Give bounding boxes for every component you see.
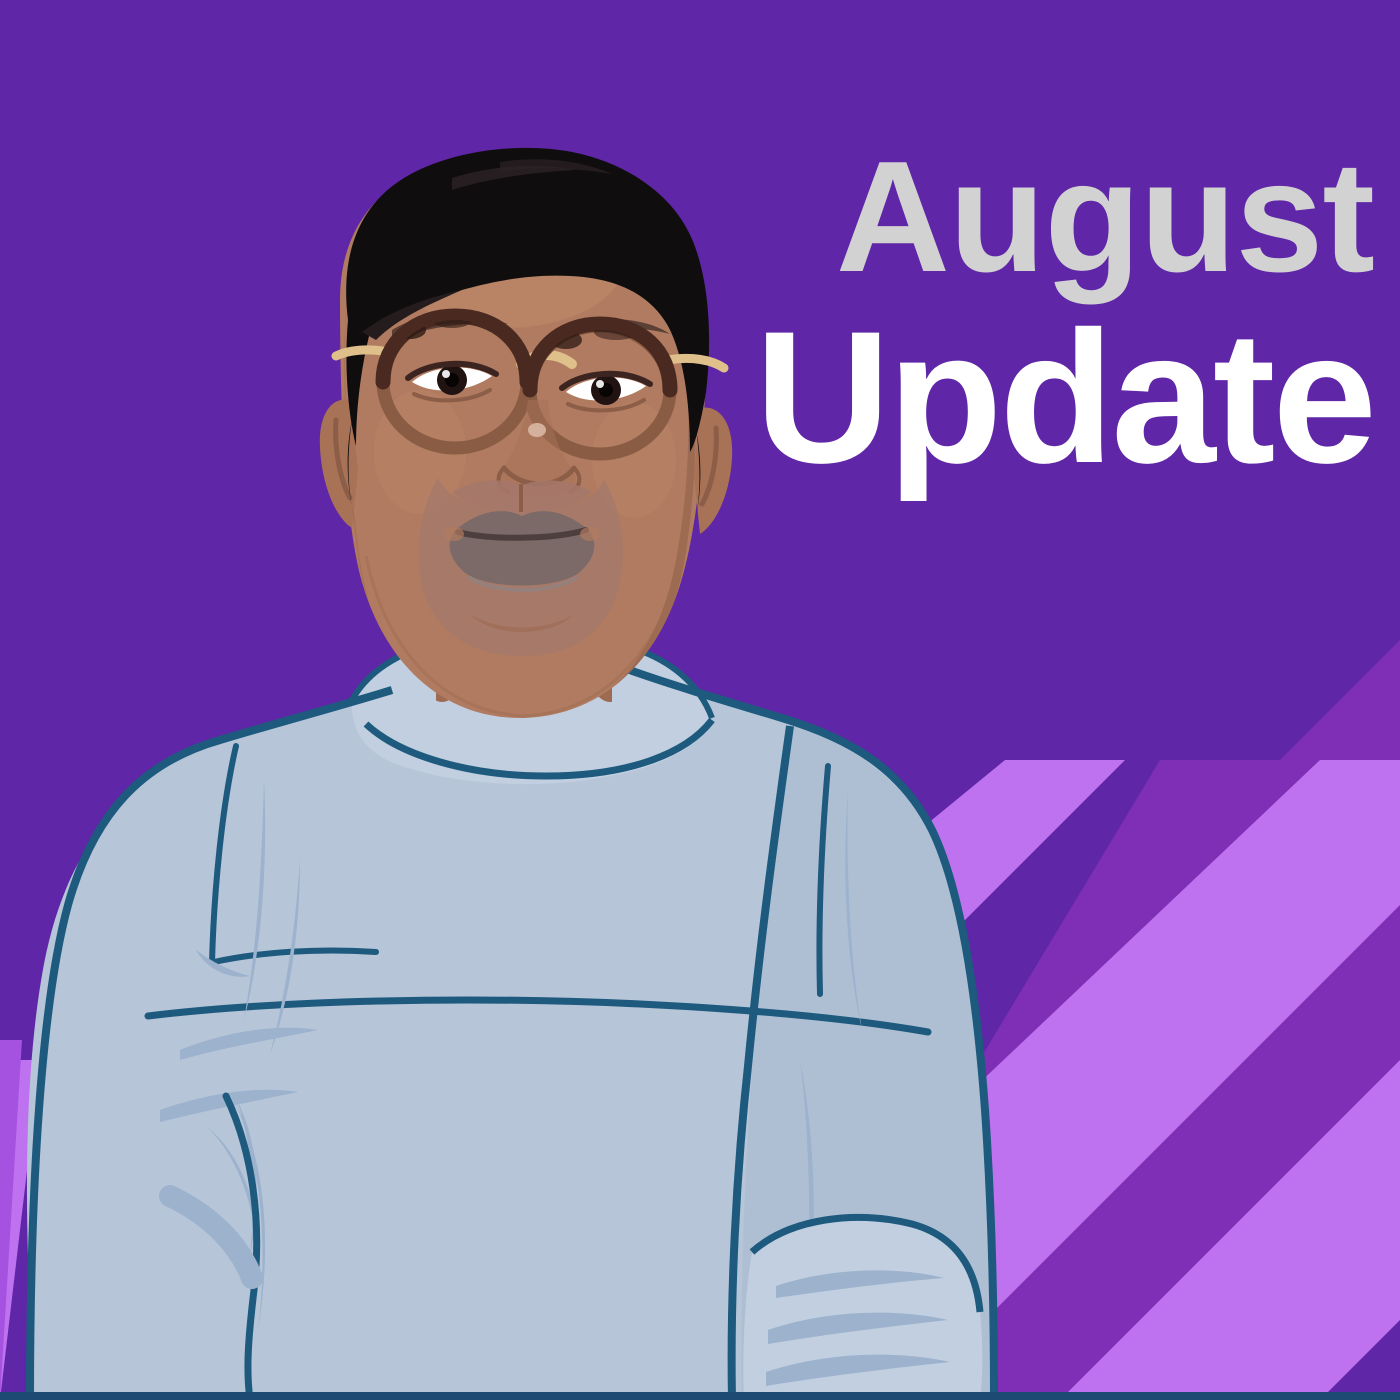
nose-highlight [528, 423, 546, 437]
frame-bottom-line [0, 1392, 1400, 1400]
portrait-illustration [0, 0, 1400, 1400]
eye-highlight-left [442, 370, 450, 378]
mouth-corner-left [444, 527, 464, 541]
sweater-body [0, 636, 1400, 1400]
head [320, 148, 732, 718]
eye-highlight-right [596, 380, 604, 388]
cover-art-canvas: August Update [0, 0, 1400, 1400]
mouth-corner-right [580, 527, 600, 541]
lips [450, 511, 595, 585]
